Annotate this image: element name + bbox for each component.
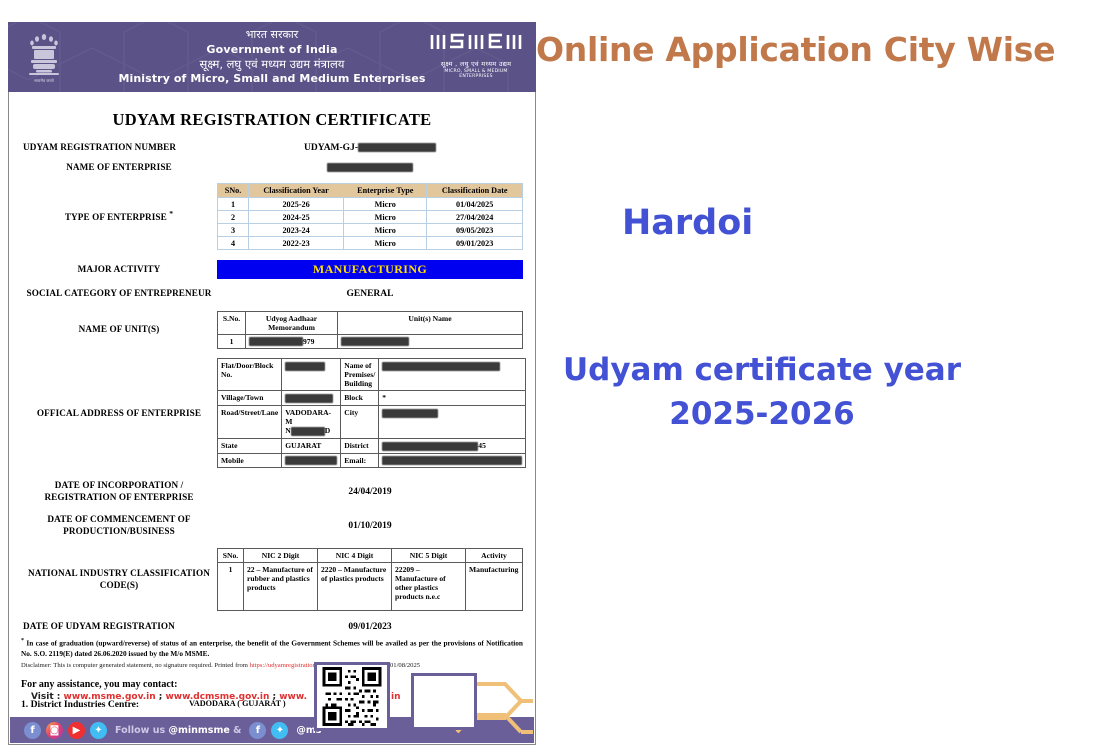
nic-table: SNo. NIC 2 Digit NIC 4 Digit NIC 5 Digit… <box>217 548 523 611</box>
ampersand: & <box>230 725 242 736</box>
nic-cell-activity: Manufacturing <box>466 563 523 611</box>
premises-value <box>379 359 526 391</box>
follow-label: Follow us <box>115 725 168 736</box>
nic-cell-2digit: 22 – Manufacture of rubber and plastics … <box>244 563 318 611</box>
commencement-date-row: DATE OF COMMENCEMENT OF PRODUCTION/BUSIN… <box>21 514 523 537</box>
redacted-village <box>285 394 333 403</box>
units-table: S.No. Udyog Aadhaar Memorandum Unit(s) N… <box>217 311 523 350</box>
district-label: District <box>341 438 379 453</box>
enterprise-name-value <box>217 162 523 172</box>
road-value-line3: D <box>325 426 330 435</box>
social-category-row: SOCIAL CATEGORY OF ENTREPRENEUR GENERAL <box>21 288 523 300</box>
enterprise-name-label: NAME OF ENTERPRISE <box>21 162 217 174</box>
mobile-label: Mobile <box>218 453 282 468</box>
visit-url-msme[interactable]: www.msme.gov.in <box>64 692 156 702</box>
certificate-title: UDYAM REGISTRATION CERTIFICATE <box>21 110 523 130</box>
city-label: City <box>341 406 379 439</box>
social-category-label: SOCIAL CATEGORY OF ENTREPRENEUR <box>21 288 217 300</box>
state-value: GUJARAT <box>282 438 341 453</box>
table-row: 1 2025-26 Micro 01/04/2025 <box>218 198 523 211</box>
registration-number-value: UDYAM-GJ- <box>217 143 523 153</box>
cell-sno: 3 <box>218 224 249 237</box>
table-row: 1 22 – Manufacture of rubber and plastic… <box>218 563 523 611</box>
classification-table: SNo. Classification Year Enterprise Type… <box>217 183 523 250</box>
enterprise-type-row: TYPE OF ENTERPRISE * SNo. Classification… <box>21 183 523 250</box>
udyam-registration-date-label: DATE OF UDYAM REGISTRATION <box>21 621 217 633</box>
official-address-label: OFFICAL ADDRESS OF ENTERPRISE <box>21 408 217 420</box>
nic-cell-sno: 1 <box>218 563 244 611</box>
cell-year: 2025-26 <box>249 198 344 211</box>
table-row: Road/Street/Lane VADODARA-M ND City <box>218 406 526 439</box>
cell-year: 2022-23 <box>249 237 344 250</box>
redacted-district <box>382 442 478 451</box>
visit-separator-2: ; <box>269 692 279 702</box>
nic-header-activity: Activity <box>466 549 523 563</box>
instagram-icon[interactable]: ◙ <box>46 722 63 739</box>
msme-logo: सूक्ष्म , लघु एवं मध्यम उद्यम MICRO, SMA… <box>428 30 524 79</box>
nic-code-row: NATIONAL INDUSTRY CLASSIFICATION CODE(S)… <box>21 548 523 611</box>
cell-sno: 1 <box>218 198 249 211</box>
incorporation-date-label: DATE OF INCORPORATION / REGISTRATION OF … <box>21 480 217 503</box>
twitter-icon[interactable]: ✦ <box>271 722 288 739</box>
government-header-banner: सत्यमेव जयते भारत सरकार Government of In… <box>8 22 536 92</box>
visit-url-third-tail: in <box>391 692 401 702</box>
cell-type: Micro <box>344 224 427 237</box>
follow-us-text: Follow us @minmsme & <box>115 725 241 736</box>
road-label: Road/Street/Lane <box>218 406 282 439</box>
disclaimer-prefix: Disclaimer: This is computer generated s… <box>21 662 250 669</box>
nic-header-2digit: NIC 2 Digit <box>244 549 318 563</box>
district-suffix: 45 <box>478 441 486 450</box>
table-row: Flat/Door/Block No. Name of Premises/ Bu… <box>218 359 526 391</box>
redacted-flat-no <box>285 362 325 371</box>
table-row: Mobile Email: <box>218 453 526 468</box>
block-value: * <box>379 391 526 406</box>
redacted-premises <box>382 362 500 371</box>
cell-date: 09/01/2023 <box>427 237 523 250</box>
redacted-uam-number <box>249 337 303 346</box>
block-label: Block <box>341 391 379 406</box>
units-cell-uam: 979 <box>246 334 338 349</box>
incorporation-date-row: DATE OF INCORPORATION / REGISTRATION OF … <box>21 480 523 503</box>
redacted-registration-number <box>358 143 436 152</box>
uam-suffix: 979 <box>303 337 314 346</box>
visit-separator-1: ; <box>156 692 166 702</box>
cell-date: 27/04/2024 <box>427 211 523 224</box>
enterprise-name-row: NAME OF ENTERPRISE <box>21 162 523 174</box>
cell-sno: 4 <box>218 237 249 250</box>
name-of-units-row: NAME OF UNIT(S) S.No. Udyog Aadhaar Memo… <box>21 311 523 350</box>
cell-type: Micro <box>344 198 427 211</box>
blank-white-box <box>411 673 477 730</box>
mobile-value <box>282 453 341 468</box>
table-row: 3 2023-24 Micro 09/05/2023 <box>218 224 523 237</box>
name-of-units-label: NAME OF UNIT(S) <box>21 324 217 336</box>
youtube-icon[interactable]: ▶ <box>68 722 85 739</box>
table-row: 4 2022-23 Micro 09/01/2023 <box>218 237 523 250</box>
table-row: State GUJARAT District 45 <box>218 438 526 453</box>
major-activity-row: MAJOR ACTIVITY MANUFACTURING <box>21 260 523 279</box>
promo-headline: Online Application City Wise <box>536 30 1116 69</box>
redacted-road <box>291 427 325 436</box>
promotional-text-panel: Online Application City Wise Hardoi Udya… <box>536 0 1116 753</box>
registration-number-label: UDYAM REGISTRATION NUMBER <box>21 142 217 154</box>
nic-cell-4digit: 2220 – Manufacture of plastics products <box>318 563 392 611</box>
minmsme-handle: @minmsme <box>168 725 229 736</box>
redacted-enterprise-name <box>327 163 413 172</box>
cell-date: 01/04/2025 <box>427 198 523 211</box>
registration-number-prefix: UDYAM-GJ- <box>304 143 358 153</box>
major-activity-label: MAJOR ACTIVITY <box>21 264 217 276</box>
email-value <box>379 453 526 468</box>
udyam-registration-date-value: 09/01/2023 <box>217 622 523 632</box>
msme-logo-english: MICRO, SMALL & MEDIUM ENTERPRISES <box>428 69 524 79</box>
units-table-header-row: S.No. Udyog Aadhaar Memorandum Unit(s) N… <box>218 311 523 334</box>
redacted-city <box>382 409 438 418</box>
visit-prefix: Visit : <box>31 692 64 702</box>
commencement-date-label: DATE OF COMMENCEMENT OF PRODUCTION/BUSIN… <box>21 514 217 537</box>
table-row: 1 979 <box>218 334 523 349</box>
msme-logo-hindi: सूक्ष्म , लघु एवं मध्यम उद्यम <box>428 59 524 68</box>
redacted-unit-name <box>341 337 409 346</box>
classification-header-sno: SNo. <box>218 184 249 198</box>
village-value <box>282 391 341 406</box>
address-table: Flat/Door/Block No. Name of Premises/ Bu… <box>217 358 526 468</box>
redacted-mobile <box>285 456 337 465</box>
state-label: State <box>218 438 282 453</box>
units-header-sno: S.No. <box>218 311 246 334</box>
enterprise-type-label: TYPE OF ENTERPRISE * <box>21 209 217 224</box>
classification-table-header-row: SNo. Classification Year Enterprise Type… <box>218 184 523 198</box>
commencement-date-value: 01/10/2019 <box>217 521 523 531</box>
nic-code-label: NATIONAL INDUSTRY CLASSIFICATION CODE(S) <box>21 568 217 591</box>
road-value: VADODARA-M ND <box>282 406 341 439</box>
nic-table-header-row: SNo. NIC 2 Digit NIC 4 Digit NIC 5 Digit… <box>218 549 523 563</box>
classification-header-year: Classification Year <box>249 184 344 198</box>
nic-header-4digit: NIC 4 Digit <box>318 549 392 563</box>
cell-type: Micro <box>344 237 427 250</box>
social-category-value: GENERAL <box>217 289 523 299</box>
premises-label: Name of Premises/ Building <box>341 359 379 391</box>
twitter-icon[interactable]: ✦ <box>90 722 107 739</box>
certificate-body: UDYAM REGISTRATION CERTIFICATE UDYAM REG… <box>8 92 536 745</box>
nic-header-5digit: NIC 5 Digit <box>392 549 466 563</box>
units-header-uam: Udyog Aadhaar Memorandum <box>246 311 338 334</box>
facebook-icon[interactable]: f <box>24 722 41 739</box>
units-cell-name <box>338 334 523 349</box>
district-value: 45 <box>379 438 526 453</box>
cell-year: 2023-24 <box>249 224 344 237</box>
type-asterisk: * <box>169 209 173 218</box>
city-value <box>379 406 526 439</box>
incorporation-date-value: 24/04/2019 <box>217 487 523 497</box>
cell-year: 2024-25 <box>249 211 344 224</box>
units-cell-sno: 1 <box>218 334 246 349</box>
promo-subtitle: Udyam certificate year 2025-2026 <box>552 348 972 436</box>
graduation-footnote: * In case of graduation (upward/reverse)… <box>21 637 523 660</box>
udyam-certificate-document: सत्यमेव जयते भारत सरकार Government of In… <box>8 22 536 745</box>
nic-header-sno: SNo. <box>218 549 244 563</box>
village-label: Village/Town <box>218 391 282 406</box>
classification-header-type: Enterprise Type <box>344 184 427 198</box>
nic-cell-5digit: 22209 – Manufacture of other plastics pr… <box>392 563 466 611</box>
cell-date: 09/05/2023 <box>427 224 523 237</box>
road-value-line2: N <box>285 426 290 435</box>
udyam-registration-date-row: DATE OF UDYAM REGISTRATION 09/01/2023 <box>21 621 523 633</box>
graduation-footnote-text: In case of graduation (upward/reverse) o… <box>21 638 523 658</box>
registration-number-row: UDYAM REGISTRATION NUMBER UDYAM-GJ- <box>21 142 523 154</box>
cell-type: Micro <box>344 211 427 224</box>
flat-label: Flat/Door/Block No. <box>218 359 282 391</box>
visit-url-third[interactable]: www. <box>279 692 307 702</box>
qr-code-image <box>319 667 385 726</box>
flat-value <box>282 359 341 391</box>
email-label: Email: <box>341 453 379 468</box>
qr-code <box>314 662 390 731</box>
promo-city-name: Hardoi <box>622 203 753 243</box>
table-row: 2 2024-25 Micro 27/04/2024 <box>218 211 523 224</box>
road-value-line1: VADODARA-M <box>285 408 331 426</box>
redacted-email <box>382 456 522 465</box>
table-row: Village/Town Block * <box>218 391 526 406</box>
classification-header-date: Classification Date <box>427 184 523 198</box>
facebook-icon[interactable]: f <box>249 722 266 739</box>
cell-sno: 2 <box>218 211 249 224</box>
major-activity-value: MANUFACTURING <box>217 260 523 279</box>
msme-wordmark-icon <box>428 30 524 52</box>
visit-url-dcmsme[interactable]: www.dcmsme.gov.in <box>165 692 269 702</box>
official-address-row: OFFICAL ADDRESS OF ENTERPRISE Flat/Door/… <box>21 358 523 468</box>
units-header-name: Unit(s) Name <box>338 311 523 334</box>
